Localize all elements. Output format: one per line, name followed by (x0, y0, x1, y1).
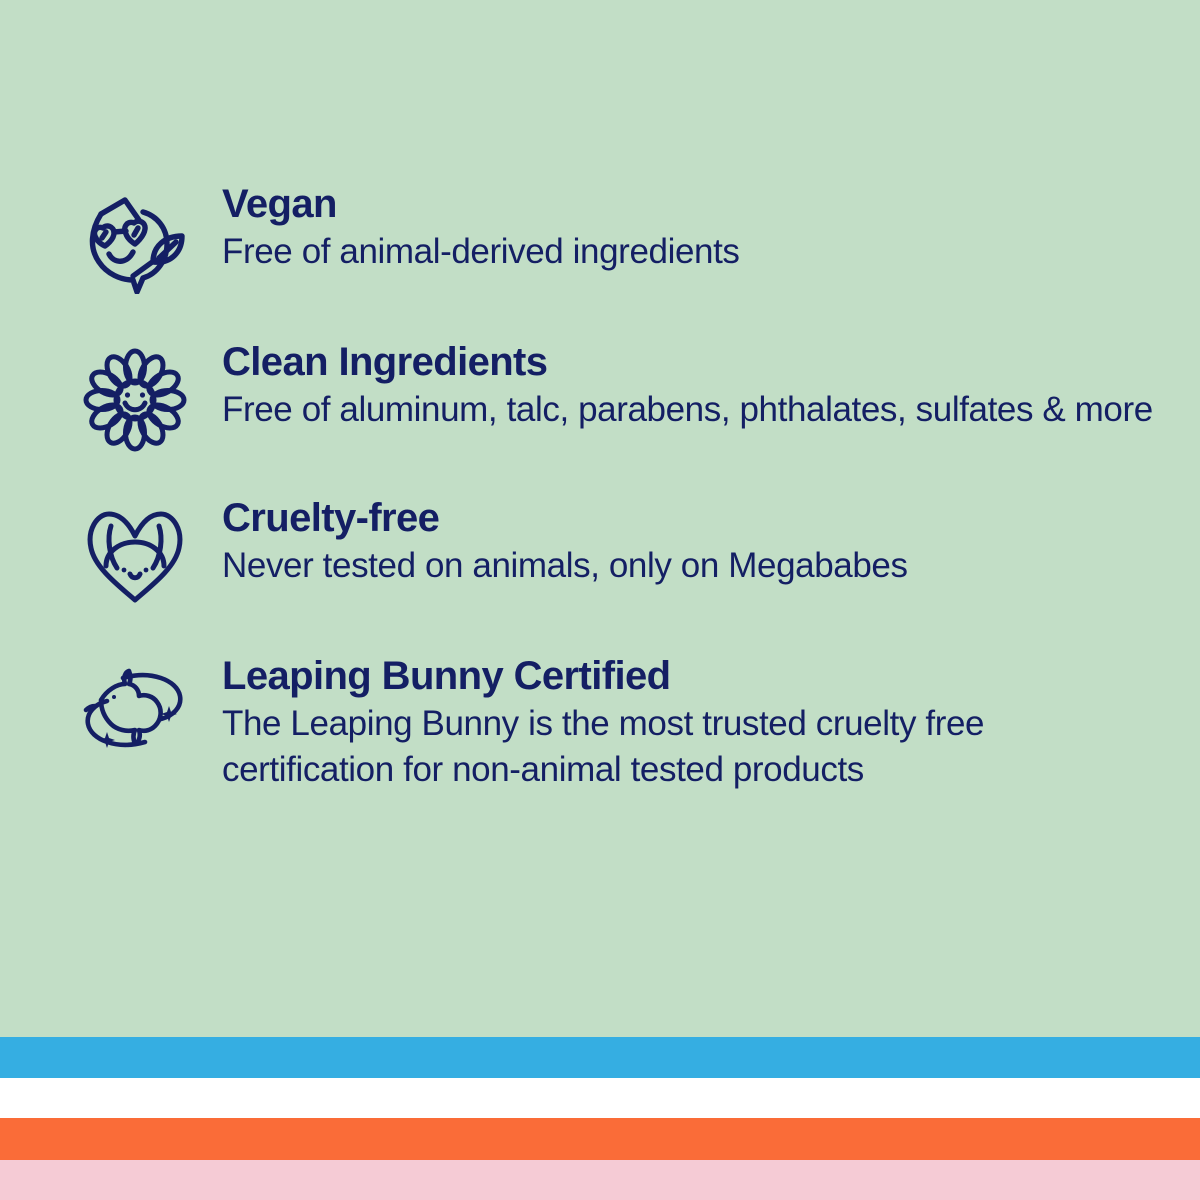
feature-description: Free of animal-derived ingredients (222, 229, 1160, 275)
orange-stripe (0, 1118, 1200, 1160)
feature-item-leaping-bunny: Leaping Bunny Certified The Leaping Bunn… (0, 654, 1200, 793)
leaping-bunny-logo-icon (80, 654, 190, 758)
feature-title: Cruelty-free (222, 496, 1160, 541)
feature-text-vegan: Vegan Free of animal-derived ingredients (222, 182, 1200, 275)
feature-title: Leaping Bunny Certified (222, 654, 1160, 699)
feature-list: Vegan Free of animal-derived ingredients (0, 182, 1200, 793)
feature-title: Clean Ingredients (222, 340, 1160, 385)
blue-stripe (0, 1037, 1200, 1078)
feature-description: The Leaping Bunny is the most trusted cr… (222, 701, 1160, 793)
feature-text-leaping-bunny: Leaping Bunny Certified The Leaping Bunn… (222, 654, 1200, 793)
color-stripe-band (0, 1037, 1200, 1200)
vegan-leaf-face-icon (80, 182, 190, 294)
feature-item-clean-ingredients: Clean Ingredients Free of aluminum, talc… (0, 340, 1200, 452)
product-claims-panel: Vegan Free of animal-derived ingredients (0, 0, 1200, 1200)
feature-item-cruelty-free: Cruelty-free Never tested on animals, on… (0, 496, 1200, 608)
pink-stripe (0, 1160, 1200, 1200)
white-stripe (0, 1078, 1200, 1118)
feature-description: Free of aluminum, talc, parabens, phthal… (222, 387, 1160, 433)
daisy-flower-smile-icon (80, 340, 190, 452)
feature-item-vegan: Vegan Free of animal-derived ingredients (0, 182, 1200, 294)
bunny-heart-face-icon (80, 496, 190, 608)
feature-description: Never tested on animals, only on Megabab… (222, 543, 1160, 589)
feature-title: Vegan (222, 182, 1160, 227)
feature-text-cruelty-free: Cruelty-free Never tested on animals, on… (222, 496, 1200, 589)
feature-text-clean-ingredients: Clean Ingredients Free of aluminum, talc… (222, 340, 1200, 433)
